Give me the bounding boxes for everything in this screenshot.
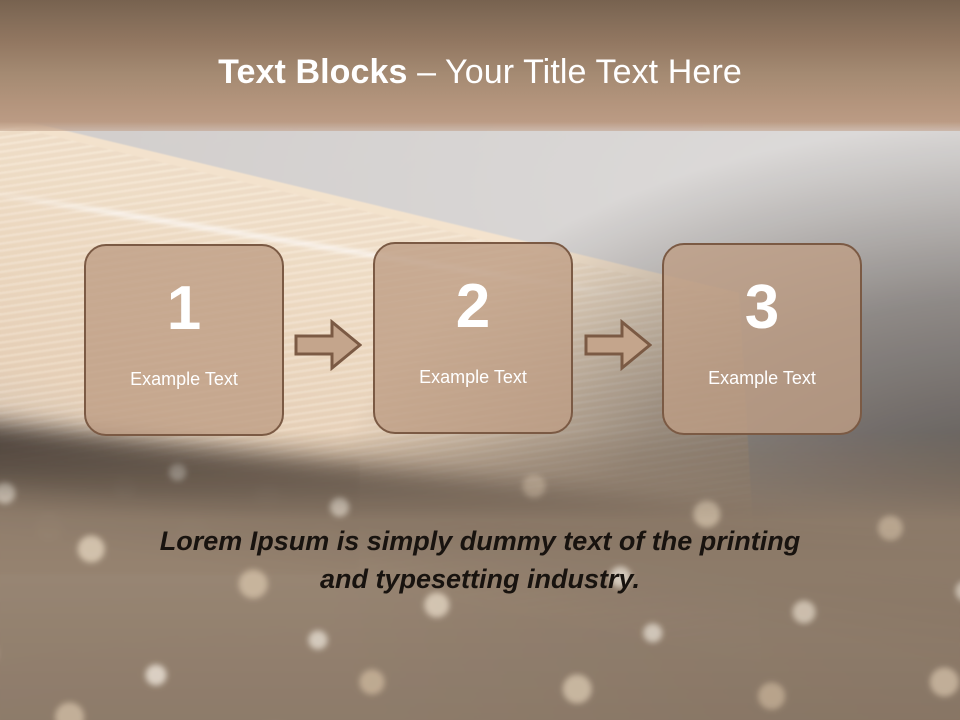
step-label-2: Example Text <box>375 366 571 388</box>
caption-text: Lorem Ipsum is simply dummy text of the … <box>110 522 850 598</box>
page-title: Text Blocks – Your Title Text Here <box>0 52 960 92</box>
caption-line-2: and typesetting industry. <box>110 560 850 598</box>
step-box-3[interactable]: 3 Example Text <box>662 243 862 435</box>
step-label-3: Example Text <box>664 367 860 389</box>
step-box-1[interactable]: 1 Example Text <box>84 244 284 436</box>
caption-line-1: Lorem Ipsum is simply dummy text of the … <box>110 522 850 560</box>
page-title-bold: Text Blocks <box>218 53 407 91</box>
page-title-separator: – <box>408 53 446 91</box>
step-label-1: Example Text <box>86 368 282 390</box>
arrow-right-icon-2 <box>584 319 652 371</box>
step-number-2: 2 <box>375 276 571 338</box>
arrow-right-icon-1 <box>294 319 362 371</box>
step-number-3: 3 <box>664 277 860 339</box>
slide-canvas: Text Blocks – Your Title Text Here 1 Exa… <box>0 0 960 720</box>
header-band: Text Blocks – Your Title Text Here <box>0 0 960 131</box>
step-number-1: 1 <box>86 278 282 340</box>
page-title-rest: Your Title Text Here <box>445 53 742 91</box>
step-box-2[interactable]: 2 Example Text <box>373 242 573 434</box>
